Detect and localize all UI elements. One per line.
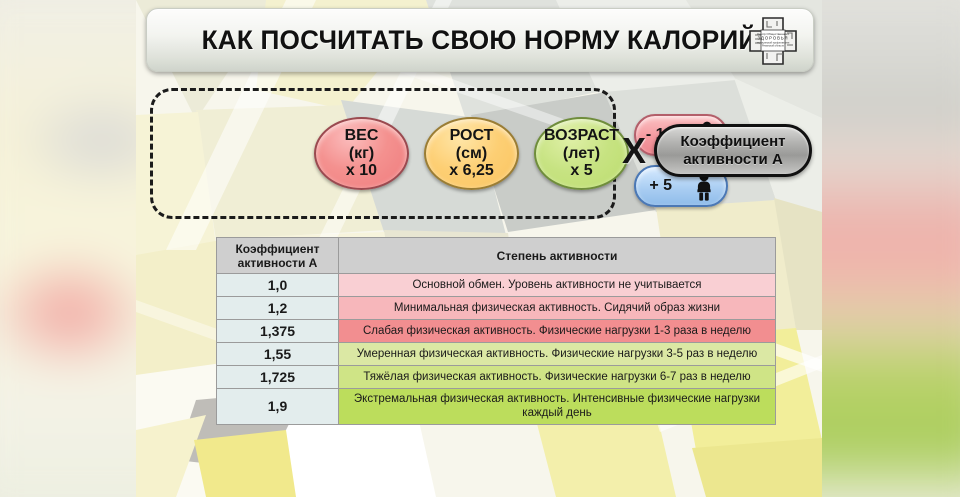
male-value: + 5: [649, 177, 672, 195]
table-head: Коэффициент активности A Степень активно…: [217, 238, 776, 274]
col-header-coefficient-line2: активности A: [221, 256, 334, 270]
title-bar: КАК ПОСЧИТАТЬ СВОЮ НОРМУ КАЛОРИЙ Центр О…: [146, 8, 814, 72]
cell-coefficient: 1,2: [217, 297, 339, 320]
age-pill: ВОЗРАСТ (лет) х 5: [534, 117, 629, 190]
svg-text:Рязанской области: Рязанской области: [762, 44, 785, 47]
age-factor: х 5: [570, 162, 592, 180]
table-body: 1,0 Основной обмен. Уровень активности н…: [217, 274, 776, 425]
cell-coefficient: 1,0: [217, 274, 339, 297]
cell-description: Экстремальная физическая активность. Инт…: [339, 389, 776, 425]
table-row: 1,2 Минимальная физическая активность. С…: [217, 297, 776, 320]
age-unit: (лет): [563, 145, 600, 163]
activity-coefficient-badge: Коэффициент активности A: [654, 124, 812, 177]
infographic-root: КАК ПОСЧИТАТЬ СВОЮ НОРМУ КАЛОРИЙ Центр О…: [0, 0, 960, 497]
cell-description: Основной обмен. Уровень активности не уч…: [339, 274, 776, 297]
col-header-activity: Степень активности: [339, 238, 776, 274]
col-header-coefficient-line1: Коэффициент: [221, 242, 334, 256]
cell-description: Умеренная физическая активность. Физичес…: [339, 343, 776, 366]
age-label: ВОЗРАСТ: [544, 127, 619, 145]
table-row: 1,0 Основной обмен. Уровень активности н…: [217, 274, 776, 297]
table-header-row: Коэффициент активности A Степень активно…: [217, 238, 776, 274]
table-row: 1,725 Тяжёлая физическая активность. Физ…: [217, 366, 776, 389]
weight-label: ВЕС: [345, 127, 379, 145]
cell-coefficient: 1,375: [217, 320, 339, 343]
page-title: КАК ПОСЧИТАТЬ СВОЮ НОРМУ КАЛОРИЙ: [202, 25, 758, 56]
table-row: 1,375 Слабая физическая активность. Физи…: [217, 320, 776, 343]
table-row: 1,55 Умеренная физическая активность. Фи…: [217, 343, 776, 366]
svg-text:ЗДОРОВЬЯ: ЗДОРОВЬЯ: [758, 36, 789, 41]
health-center-cross-logo: Центр Общественного ЗДОРОВЬЯ медицинской…: [747, 15, 799, 67]
weight-factor: х 10: [346, 162, 377, 180]
height-factor: х 6,25: [449, 162, 493, 180]
activity-coefficient-table: Коэффициент активности A Степень активно…: [216, 237, 776, 425]
weight-pill: ВЕС (кг) х 10: [314, 117, 409, 190]
cell-description: Тяжёлая физическая активность. Физически…: [339, 366, 776, 389]
content-panel: КАК ПОСЧИТАТЬ СВОЮ НОРМУ КАЛОРИЙ Центр О…: [136, 0, 822, 497]
coef-badge-line1: Коэффициент: [680, 133, 785, 151]
cell-description: Минимальная физическая активность. Сидяч…: [339, 297, 776, 320]
weight-unit: (кг): [349, 145, 374, 163]
height-pill: РОСТ (см) х 6,25: [424, 117, 519, 190]
cell-description: Слабая физическая активность. Физические…: [339, 320, 776, 343]
height-label: РОСТ: [450, 127, 494, 145]
cell-coefficient: 1,725: [217, 366, 339, 389]
cell-coefficient: 1,9: [217, 389, 339, 425]
multiply-sign: Х: [622, 130, 646, 172]
col-header-coefficient: Коэффициент активности A: [217, 238, 339, 274]
height-unit: (см): [456, 145, 487, 163]
table-row: 1,9 Экстремальная физическая активность.…: [217, 389, 776, 425]
cell-coefficient: 1,55: [217, 343, 339, 366]
coef-badge-line2: активности A: [683, 151, 783, 169]
